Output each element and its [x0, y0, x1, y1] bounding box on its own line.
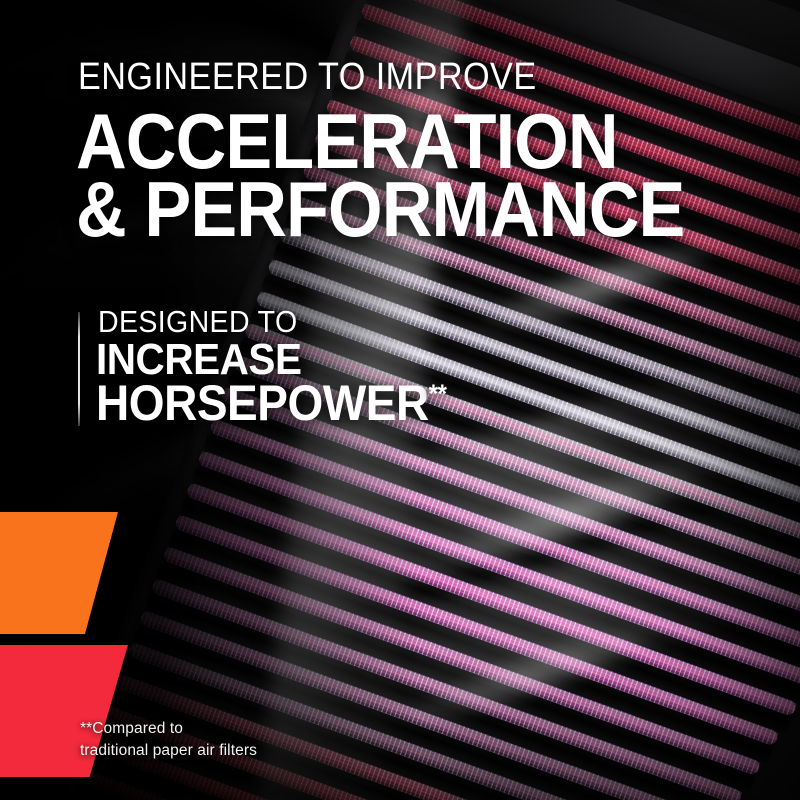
footnote-superscript-marker: ** [429, 378, 447, 408]
footnote-line-2: traditional paper air filters [80, 740, 257, 762]
headline-line-2: & PERFORMANCE [76, 172, 684, 247]
vertical-divider [78, 312, 80, 426]
copy-block: ENGINEERED TO IMPROVE ACCELERATION & PER… [0, 0, 800, 800]
subhead-kicker: DESIGNED TO [98, 306, 298, 337]
subhead-line-2-text: HORSEPOWER [96, 375, 429, 431]
headline-kicker: ENGINEERED TO IMPROVE [78, 58, 537, 96]
performance-banner: ENGINEERED TO IMPROVE ACCELERATION & PER… [0, 0, 800, 800]
subhead-line-2: HORSEPOWER** [96, 378, 446, 428]
footnote-line-1: **Compared to [80, 718, 257, 740]
footnote: **Compared to traditional paper air filt… [80, 718, 257, 763]
